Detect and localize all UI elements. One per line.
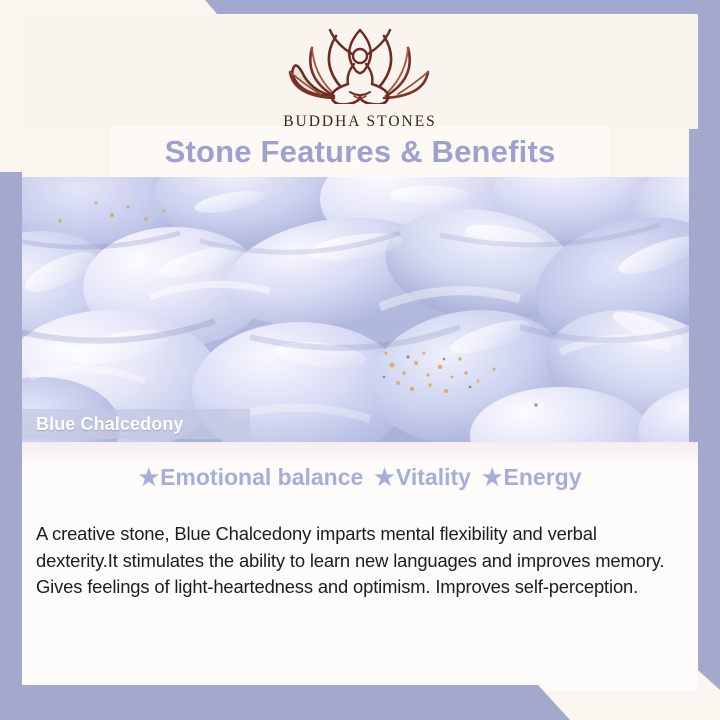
hero-caption-text: Blue Chalcedony [36,414,184,435]
content-section: ★ Emotional balance ★ Vitality ★ Energy … [22,442,698,685]
benefit-label: Energy [504,464,582,491]
section-title-banner: Stone Features & Benefits [110,126,610,177]
brand-logo: BUDDHA STONES [274,26,446,131]
hero-image [0,177,720,442]
description-text: A creative stone, Blue Chalcedony impart… [36,521,676,601]
star-icon: ★ [138,466,159,489]
frame-left-accent [0,172,22,720]
benefit-item: ★ Vitality [374,464,471,491]
star-icon: ★ [482,466,503,489]
benefit-label: Emotional balance [160,464,363,491]
hero-caption: Blue Chalcedony [22,409,250,439]
stone-feature-card: Blue Chalcedony [0,0,720,720]
page-title: Stone Features & Benefits [165,134,556,170]
star-icon: ★ [374,466,395,489]
benefit-item: ★ Energy [482,464,582,491]
content-top-gradient [22,442,698,464]
lotus-meditation-icon [274,26,446,109]
benefit-item: ★ Emotional balance [138,464,363,491]
brand-header: BUDDHA STONES [22,14,698,129]
benefit-label: Vitality [396,464,471,491]
benefits-list: ★ Emotional balance ★ Vitality ★ Energy [22,464,698,491]
